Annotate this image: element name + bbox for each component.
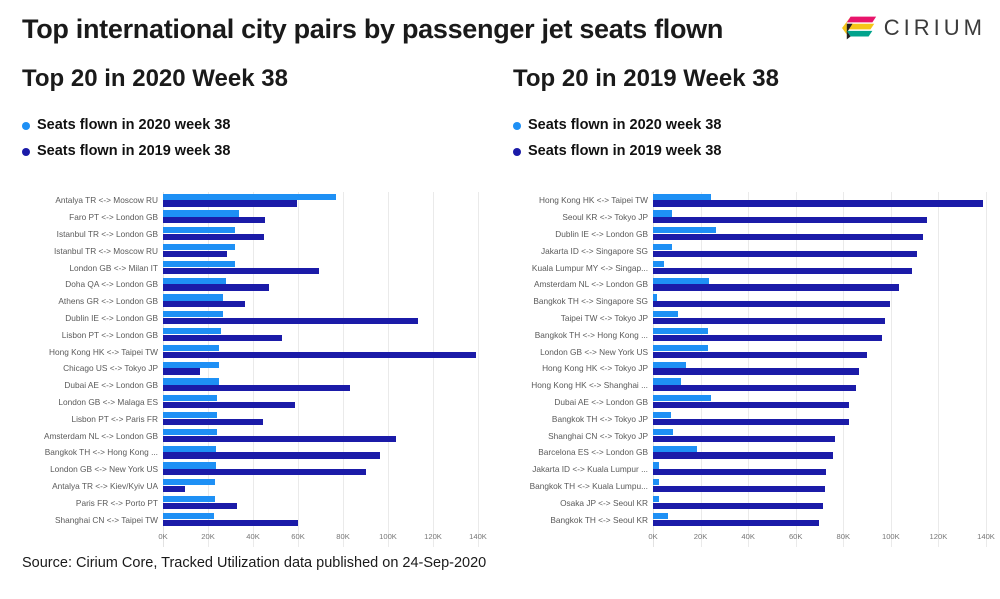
left-x-axis: 0K20K40K60K80K100K120K140K — [163, 530, 478, 546]
bar-2020 — [163, 227, 235, 233]
bar-2019 — [163, 368, 200, 374]
left-bar-chart: Antalya TR <-> Moscow RUFaro PT <-> Lond… — [18, 192, 478, 547]
chart-row: Shanghai CN <-> Taipei TW — [18, 511, 478, 528]
right-chart-rows: Hong Kong HK <-> Taipei TWSeoul KR <-> T… — [508, 192, 986, 547]
bar-2020 — [653, 412, 671, 418]
bar-2019 — [653, 318, 885, 324]
x-axis-tick: 120K — [424, 532, 442, 541]
chart-row: Bangkok TH <-> Tokyo JP — [508, 410, 986, 427]
bar-2019 — [163, 352, 476, 358]
bar-2020 — [653, 462, 659, 468]
chart-row: Bangkok TH <-> Hong Kong ... — [18, 444, 478, 461]
category-label: Istanbul TR <-> London GB — [18, 229, 163, 239]
bar-2019 — [653, 234, 923, 240]
category-label: Antalya TR <-> Kiev/Kyiv UA — [18, 481, 163, 491]
bar-2019 — [163, 436, 396, 442]
bar-2019 — [163, 301, 245, 307]
x-axis-tick: 40K — [246, 532, 260, 541]
bar-group — [653, 326, 986, 343]
bar-group — [163, 461, 478, 478]
bar-2019 — [163, 402, 295, 408]
chart-row: Hong Kong HK <-> Taipei TW — [18, 343, 478, 360]
category-label: Dubai AE <-> London GB — [18, 380, 163, 390]
bar-group — [163, 444, 478, 461]
bar-group — [163, 276, 478, 293]
bar-2019 — [653, 268, 912, 274]
bar-2019 — [653, 301, 890, 307]
category-label: Hong Kong HK <-> Taipei TW — [508, 195, 653, 205]
chart-row: Hong Kong HK <-> Taipei TW — [508, 192, 986, 209]
bar-2020 — [653, 227, 716, 233]
bar-2020 — [653, 395, 711, 401]
bar-2019 — [163, 268, 319, 274]
category-label: Taipei TW <-> Tokyo JP — [508, 313, 653, 323]
bar-2019 — [163, 251, 227, 257]
chart-row: Istanbul TR <-> London GB — [18, 226, 478, 243]
category-label: Hong Kong HK <-> Taipei TW — [18, 347, 163, 357]
right-legend: Seats flown in 2020 week 38 Seats flown … — [513, 115, 721, 167]
bar-group — [163, 310, 478, 327]
bar-2020 — [163, 446, 216, 452]
legend-label-2020: Seats flown in 2020 week 38 — [528, 115, 721, 136]
bar-2020 — [163, 194, 336, 200]
x-axis-tick: 140K — [977, 532, 995, 541]
category-label: Dublin IE <-> London GB — [508, 229, 653, 239]
legend-dot-2020-icon — [22, 122, 30, 130]
category-label: Hong Kong HK <-> Shanghai ... — [508, 380, 653, 390]
bar-2020 — [653, 429, 673, 435]
bar-group — [653, 209, 986, 226]
bar-2020 — [653, 446, 697, 452]
bar-2020 — [653, 345, 708, 351]
chart-row: Antalya TR <-> Moscow RU — [18, 192, 478, 209]
chart-row: Osaka JP <-> Seoul KR — [508, 494, 986, 511]
bar-group — [653, 310, 986, 327]
chart-row: Bangkok TH <-> Seoul KR — [508, 511, 986, 528]
legend-dot-2019-icon — [22, 148, 30, 156]
x-axis-tick: 140K — [469, 532, 487, 541]
bar-2020 — [653, 261, 664, 267]
bar-2020 — [653, 496, 659, 502]
cirium-logo-text: CIRIUM — [884, 15, 986, 41]
bar-2020 — [163, 244, 235, 250]
chart-row: Dubai AE <-> London GB — [18, 377, 478, 394]
legend-item-2019: Seats flown in 2019 week 38 — [22, 141, 230, 162]
bar-2019 — [653, 200, 983, 206]
bar-2020 — [163, 210, 239, 216]
legend-label-2019: Seats flown in 2019 week 38 — [528, 141, 721, 162]
source-note: Source: Cirium Core, Tracked Utilization… — [22, 555, 486, 571]
bar-group — [653, 192, 986, 209]
category-label: Bangkok TH <-> Tokyo JP — [508, 414, 653, 424]
chart-row: Shanghai CN <-> Tokyo JP — [508, 427, 986, 444]
chart-row: Lisbon PT <-> Paris FR — [18, 410, 478, 427]
chart-row: Dublin IE <-> London GB — [18, 310, 478, 327]
category-label: London GB <-> New York US — [18, 464, 163, 474]
cirium-logo: CIRIUM — [842, 10, 986, 46]
bar-2020 — [163, 294, 223, 300]
bar-2019 — [653, 385, 856, 391]
bar-2019 — [163, 486, 185, 492]
bar-2019 — [653, 217, 927, 223]
bar-2019 — [653, 335, 882, 341]
category-label: Hong Kong HK <-> Tokyo JP — [508, 363, 653, 373]
bar-2019 — [163, 318, 418, 324]
bar-group — [163, 192, 478, 209]
category-label: Faro PT <-> London GB — [18, 212, 163, 222]
chart-row: Kuala Lumpur MY <-> Singap... — [508, 259, 986, 276]
bar-2019 — [653, 452, 833, 458]
category-label: Bangkok TH <-> Hong Kong ... — [18, 447, 163, 457]
bar-group — [163, 209, 478, 226]
chart-row: Hong Kong HK <-> Tokyo JP — [508, 360, 986, 377]
chart-row: Hong Kong HK <-> Shanghai ... — [508, 377, 986, 394]
bar-2020 — [653, 278, 709, 284]
legend-label-2019: Seats flown in 2019 week 38 — [37, 141, 230, 162]
bar-group — [163, 394, 478, 411]
bar-2019 — [163, 217, 265, 223]
chart-row: Bangkok TH <-> Hong Kong ... — [508, 326, 986, 343]
bar-2019 — [653, 469, 826, 475]
x-axis-tick: 0K — [158, 532, 167, 541]
legend-label-2020: Seats flown in 2020 week 38 — [37, 115, 230, 136]
bar-2019 — [163, 520, 298, 526]
bar-group — [163, 226, 478, 243]
left-legend: Seats flown in 2020 week 38 Seats flown … — [22, 115, 230, 167]
category-label: Barcelona ES <-> London GB — [508, 447, 653, 457]
bar-2019 — [653, 352, 867, 358]
legend-item-2020: Seats flown in 2020 week 38 — [513, 115, 721, 136]
category-label: Jakarta ID <-> Kuala Lumpur ... — [508, 464, 653, 474]
legend-dot-2019-icon — [513, 148, 521, 156]
bar-2020 — [163, 362, 219, 368]
bar-2020 — [163, 429, 217, 435]
category-label: Doha QA <-> London GB — [18, 279, 163, 289]
bar-group — [163, 410, 478, 427]
x-axis-tick: 100K — [379, 532, 397, 541]
bar-group — [653, 394, 986, 411]
bar-2020 — [653, 362, 686, 368]
bar-2019 — [653, 251, 917, 257]
bar-group — [163, 293, 478, 310]
category-label: Osaka JP <-> Seoul KR — [508, 498, 653, 508]
category-label: Bangkok TH <-> Kuala Lumpu... — [508, 481, 653, 491]
bar-2019 — [163, 335, 282, 341]
bar-2019 — [653, 402, 849, 408]
bar-group — [163, 511, 478, 528]
bar-2020 — [653, 294, 657, 300]
category-label: Dublin IE <-> London GB — [18, 313, 163, 323]
bar-group — [653, 461, 986, 478]
chart-row: London GB <-> New York US — [18, 461, 478, 478]
x-axis-tick: 20K — [694, 532, 708, 541]
bar-group — [653, 276, 986, 293]
right-x-axis: 0K20K40K60K80K100K120K140K — [653, 530, 986, 546]
category-label: Seoul KR <-> Tokyo JP — [508, 212, 653, 222]
bar-2020 — [163, 462, 216, 468]
bar-2019 — [163, 234, 264, 240]
bar-group — [653, 293, 986, 310]
right-panel-title: Top 20 in 2019 Week 38 — [513, 65, 779, 93]
chart-row: London GB <-> Malaga ES — [18, 394, 478, 411]
bar-group — [163, 360, 478, 377]
bar-2020 — [163, 278, 226, 284]
x-axis-tick: 80K — [837, 532, 851, 541]
category-label: Istanbul TR <-> Moscow RU — [18, 246, 163, 256]
chart-row: Faro PT <-> London GB — [18, 209, 478, 226]
bar-group — [653, 511, 986, 528]
x-axis-tick: 60K — [291, 532, 305, 541]
category-label: Athens GR <-> London GB — [18, 296, 163, 306]
bar-group — [163, 427, 478, 444]
category-label: Bangkok TH <-> Singapore SG — [508, 296, 653, 306]
chart-page: Top international city pairs by passenge… — [0, 0, 1000, 599]
bar-group — [163, 494, 478, 511]
category-label: Dubai AE <-> London GB — [508, 397, 653, 407]
cirium-logo-mark — [842, 10, 880, 46]
chart-row: Taipei TW <-> Tokyo JP — [508, 310, 986, 327]
x-axis-tick: 60K — [789, 532, 803, 541]
bar-2020 — [653, 194, 711, 200]
category-label: Kuala Lumpur MY <-> Singap... — [508, 263, 653, 273]
bar-2020 — [163, 496, 215, 502]
bar-2019 — [653, 436, 835, 442]
bar-2020 — [163, 395, 217, 401]
bar-group — [653, 242, 986, 259]
chart-row: Athens GR <-> London GB — [18, 293, 478, 310]
bar-group — [653, 427, 986, 444]
chart-row: Jakarta ID <-> Kuala Lumpur ... — [508, 461, 986, 478]
category-label: Shanghai CN <-> Taipei TW — [18, 515, 163, 525]
bar-group — [163, 326, 478, 343]
bar-2019 — [163, 452, 380, 458]
bar-group — [653, 259, 986, 276]
bar-2019 — [653, 520, 819, 526]
bar-2020 — [163, 328, 221, 334]
bar-group — [653, 410, 986, 427]
bar-2019 — [653, 486, 825, 492]
gridline — [478, 192, 479, 547]
bar-group — [653, 226, 986, 243]
category-label: Lisbon PT <-> London GB — [18, 330, 163, 340]
chart-row: Barcelona ES <-> London GB — [508, 444, 986, 461]
chart-row: Chicago US <-> Tokyo JP — [18, 360, 478, 377]
bar-group — [653, 377, 986, 394]
bar-2019 — [653, 419, 849, 425]
bar-2020 — [163, 513, 214, 519]
bar-2020 — [163, 412, 217, 418]
legend-item-2020: Seats flown in 2020 week 38 — [22, 115, 230, 136]
left-chart-rows: Antalya TR <-> Moscow RUFaro PT <-> Lond… — [18, 192, 478, 547]
legend-item-2019: Seats flown in 2019 week 38 — [513, 141, 721, 162]
category-label: Bangkok TH <-> Hong Kong ... — [508, 330, 653, 340]
chart-row: Doha QA <-> London GB — [18, 276, 478, 293]
bar-2020 — [163, 261, 235, 267]
chart-row: London GB <-> Milan IT — [18, 259, 478, 276]
x-axis-tick: 0K — [648, 532, 657, 541]
bar-2020 — [163, 311, 223, 317]
legend-dot-2020-icon — [513, 122, 521, 130]
chart-row: Amsterdam NL <-> London GB — [18, 427, 478, 444]
x-axis-tick: 120K — [930, 532, 948, 541]
x-axis-tick: 20K — [201, 532, 215, 541]
category-label: Jakarta ID <-> Singapore SG — [508, 246, 653, 256]
chart-row: Paris FR <-> Porto PT — [18, 494, 478, 511]
bar-group — [163, 478, 478, 495]
x-axis-tick: 40K — [741, 532, 755, 541]
chart-row: Bangkok TH <-> Kuala Lumpu... — [508, 478, 986, 495]
category-label: Bangkok TH <-> Seoul KR — [508, 515, 653, 525]
bar-group — [163, 242, 478, 259]
bar-2019 — [653, 284, 899, 290]
chart-row: Lisbon PT <-> London GB — [18, 326, 478, 343]
bar-2020 — [653, 378, 681, 384]
bar-group — [163, 343, 478, 360]
bar-group — [653, 343, 986, 360]
chart-row: Dublin IE <-> London GB — [508, 226, 986, 243]
bar-2019 — [653, 368, 859, 374]
category-label: Paris FR <-> Porto PT — [18, 498, 163, 508]
bar-group — [653, 494, 986, 511]
category-label: Chicago US <-> Tokyo JP — [18, 363, 163, 373]
chart-row: Istanbul TR <-> Moscow RU — [18, 242, 478, 259]
category-label: London GB <-> Malaga ES — [18, 397, 163, 407]
bar-2020 — [163, 378, 219, 384]
chart-row: Jakarta ID <-> Singapore SG — [508, 242, 986, 259]
category-label: London GB <-> Milan IT — [18, 263, 163, 273]
chart-row: Seoul KR <-> Tokyo JP — [508, 209, 986, 226]
bar-group — [163, 259, 478, 276]
chart-row: Amsterdam NL <-> London GB — [508, 276, 986, 293]
bar-2020 — [653, 479, 659, 485]
bar-2020 — [163, 479, 215, 485]
x-axis-tick: 80K — [336, 532, 350, 541]
chart-row: Antalya TR <-> Kiev/Kyiv UA — [18, 478, 478, 495]
bar-2020 — [653, 513, 668, 519]
category-label: Amsterdam NL <-> London GB — [508, 279, 653, 289]
bar-group — [653, 478, 986, 495]
bar-2019 — [163, 200, 297, 206]
bar-2020 — [653, 311, 678, 317]
category-label: London GB <-> New York US — [508, 347, 653, 357]
chart-row: Dubai AE <-> London GB — [508, 394, 986, 411]
bar-2019 — [653, 503, 823, 509]
chart-row: London GB <-> New York US — [508, 343, 986, 360]
category-label: Amsterdam NL <-> London GB — [18, 431, 163, 441]
bar-group — [653, 444, 986, 461]
category-label: Lisbon PT <-> Paris FR — [18, 414, 163, 424]
bar-2020 — [653, 244, 672, 250]
bar-2019 — [163, 419, 263, 425]
chart-row: Bangkok TH <-> Singapore SG — [508, 293, 986, 310]
category-label: Antalya TR <-> Moscow RU — [18, 195, 163, 205]
gridline — [986, 192, 987, 547]
left-panel-title: Top 20 in 2020 Week 38 — [22, 65, 288, 93]
category-label: Shanghai CN <-> Tokyo JP — [508, 431, 653, 441]
page-title: Top international city pairs by passenge… — [22, 14, 723, 45]
bar-group — [653, 360, 986, 377]
bar-2019 — [163, 284, 269, 290]
x-axis-tick: 100K — [882, 532, 900, 541]
bar-group — [163, 377, 478, 394]
bar-2020 — [163, 345, 219, 351]
bar-2020 — [653, 328, 708, 334]
bar-2019 — [163, 385, 350, 391]
bar-2020 — [653, 210, 672, 216]
bar-2019 — [163, 503, 237, 509]
right-bar-chart: Hong Kong HK <-> Taipei TWSeoul KR <-> T… — [508, 192, 986, 547]
bar-2019 — [163, 469, 366, 475]
